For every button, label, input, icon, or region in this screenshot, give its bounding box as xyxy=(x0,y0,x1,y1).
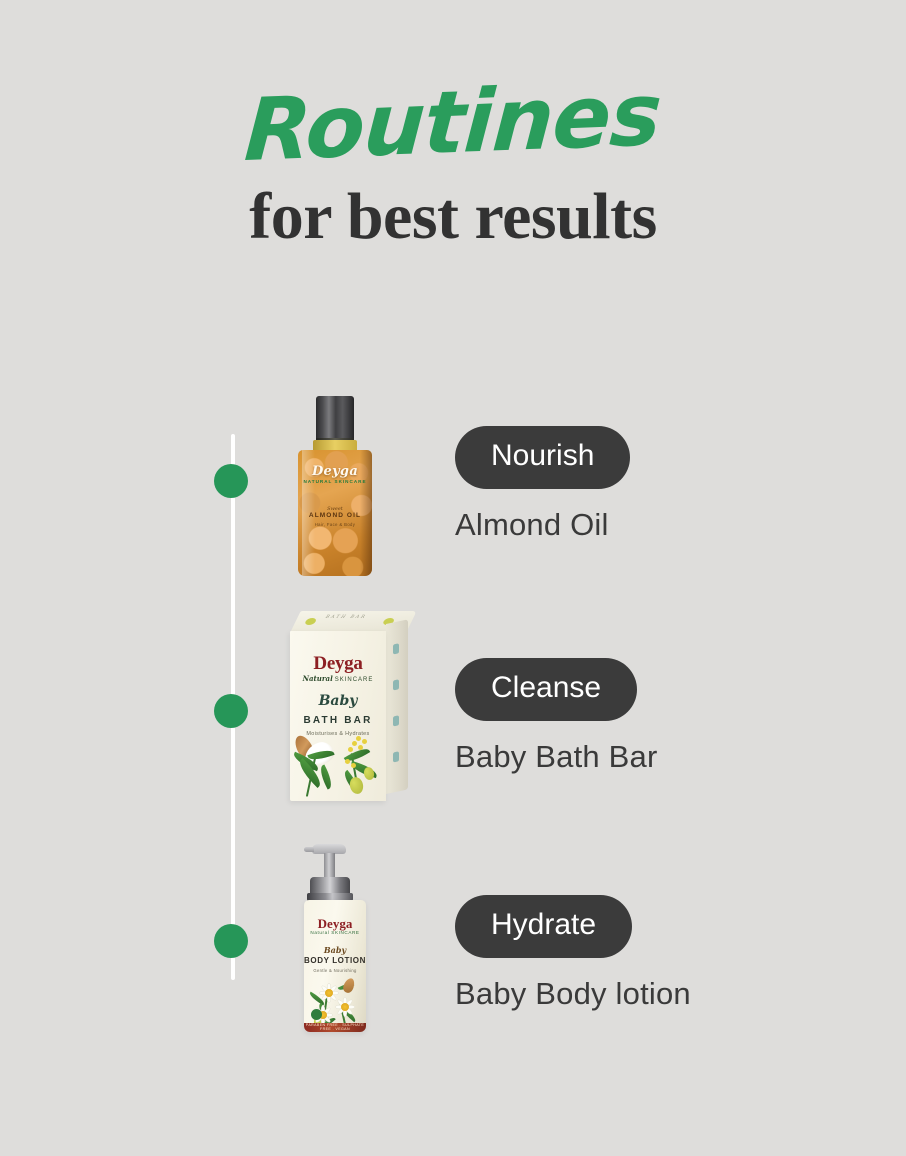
step-text-hydrate: Hydrate Baby Body lotion xyxy=(455,895,691,1012)
step-badge-hydrate[interactable]: Hydrate xyxy=(455,895,632,958)
lotion-bottle-body: Deyga Natural SKINCARE Baby BODY LOTION … xyxy=(304,900,366,1032)
olive-illustration-icon xyxy=(363,766,376,781)
flower-illustration-icon xyxy=(351,763,356,768)
box-front-face: Deyga Natural SKINCARE Baby BATH BAR Moi… xyxy=(290,631,386,801)
chamomile-illustration-icon xyxy=(334,996,352,1014)
pump-stem xyxy=(324,853,335,879)
product-desc-label: Gentle & Nourishing xyxy=(304,968,366,973)
baby-body-lotion-bottle: Deyga Natural SKINCARE Baby BODY LOTION … xyxy=(298,844,374,1034)
step-badge-cleanse[interactable]: Cleanse xyxy=(455,658,637,721)
product-desc-label: Hair, Face & Body xyxy=(298,522,372,527)
product-title-almond-oil: Almond Oil xyxy=(455,507,630,543)
product-name-label: BODY LOTION xyxy=(304,956,366,965)
product-brand-sub-label: Natural SKINCARE xyxy=(304,930,366,935)
routine-step-nourish: Deyga NATURAL SKINCARE Sweet ALMOND OIL … xyxy=(0,390,906,590)
product-image-almond-oil: Deyga NATURAL SKINCARE Sweet ALMOND OIL … xyxy=(270,390,435,590)
step-text-nourish: Nourish Almond Oil xyxy=(455,426,630,543)
bottle-cap-icon xyxy=(316,396,354,440)
heading-serif-line: for best results xyxy=(0,184,906,250)
side-symbol-icon xyxy=(393,679,399,690)
almond-oil-bottle: Deyga NATURAL SKINCARE Sweet ALMOND OIL … xyxy=(298,396,372,576)
step-badge-nourish[interactable]: Nourish xyxy=(455,426,630,489)
olive-dot-icon xyxy=(304,618,317,625)
flower-illustration-icon xyxy=(362,739,367,744)
product-image-baby-bath-bar: BATH BAR Deyga Natural SKINCARE Baby BAT… xyxy=(270,603,435,813)
bottle-bottom-band: PARABEN FREE . SULPHATE FREE . VEGAN xyxy=(304,1023,366,1032)
product-title-baby-bath-bar: Baby Bath Bar xyxy=(455,739,658,775)
product-name-label: ALMOND OIL xyxy=(298,512,372,519)
product-brand-sub-label: NATURAL SKINCARE xyxy=(298,479,372,484)
routine-step-cleanse: BATH BAR Deyga Natural SKINCARE Baby BAT… xyxy=(0,603,906,813)
side-symbol-icon xyxy=(393,715,399,726)
side-symbol-icon xyxy=(393,643,399,654)
product-brand-label: Deyga xyxy=(298,464,372,479)
flower-illustration-icon xyxy=(345,759,350,764)
routines-banner: Routines for best results Deyga NATURAL … xyxy=(0,0,906,1156)
page-title: Routines for best results xyxy=(0,80,906,250)
routine-step-hydrate: Deyga Natural SKINCARE Baby BODY LOTION … xyxy=(0,840,906,1040)
almond-illustration-icon xyxy=(342,977,357,995)
flower-illustration-icon xyxy=(352,741,357,746)
bottle-body: Deyga NATURAL SKINCARE Sweet ALMOND OIL … xyxy=(298,450,372,576)
bottle-band-text: PARABEN FREE . SULPHATE FREE . VEGAN xyxy=(304,1023,366,1031)
product-name-label: BATH BAR xyxy=(290,715,386,726)
certification-badge-icon xyxy=(311,1009,322,1020)
flower-illustration-icon xyxy=(348,747,353,752)
brand-natural-word: Natural xyxy=(303,674,333,683)
flower-illustration-icon xyxy=(358,745,363,750)
product-brand-sub-label: Natural SKINCARE xyxy=(290,674,386,683)
box-top-text: BATH BAR xyxy=(324,615,367,620)
step-text-cleanse: Cleanse Baby Bath Bar xyxy=(455,658,658,775)
product-title-baby-body-lotion: Baby Body lotion xyxy=(455,976,691,1012)
product-baby-label: Baby xyxy=(304,945,366,955)
box-side-face xyxy=(386,619,408,794)
olive-illustration-icon xyxy=(348,776,365,796)
brand-skincare-word: SKINCARE xyxy=(335,677,374,683)
leaf-illustration-icon xyxy=(317,764,335,789)
side-symbol-icon xyxy=(393,751,399,762)
product-baby-label: Baby xyxy=(290,693,386,709)
product-brand-label: Deyga xyxy=(290,653,386,675)
product-image-baby-body-lotion: Deyga Natural SKINCARE Baby BODY LOTION … xyxy=(270,840,435,1040)
heading-script-line: Routines xyxy=(242,72,663,174)
baby-bath-bar-box: BATH BAR Deyga Natural SKINCARE Baby BAT… xyxy=(278,611,428,803)
flower-illustration-icon xyxy=(356,736,361,741)
